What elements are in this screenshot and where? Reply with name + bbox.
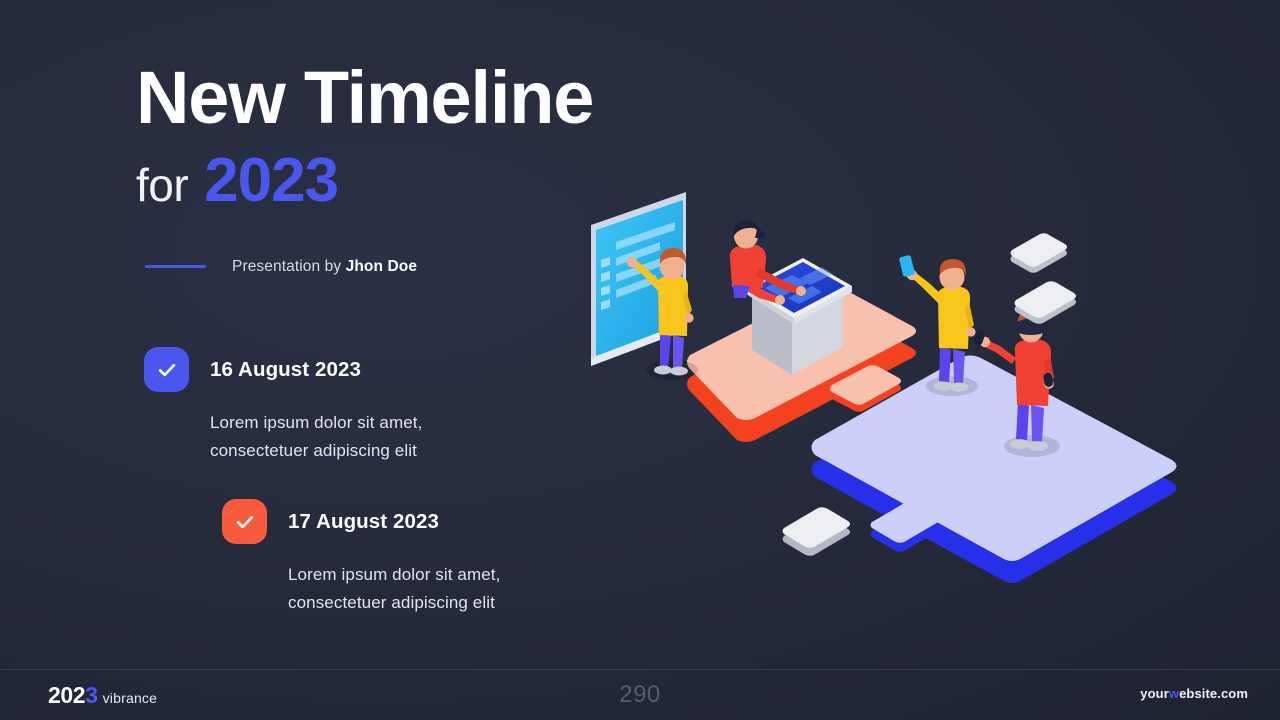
timeline-item-header: 17 August 2023 — [222, 499, 500, 544]
timeline-badge-checked[interactable] — [222, 499, 267, 544]
timeline-item[interactable]: 16 August 2023 Lorem ipsum dolor sit ame… — [144, 347, 422, 464]
website-link[interactable]: yourwebsite.com — [1140, 686, 1248, 701]
floating-slab-white-bottom — [783, 507, 851, 556]
timeline-item-date: 17 August 2023 — [288, 510, 439, 534]
website-accent-letter: w — [1169, 686, 1179, 701]
check-icon — [234, 511, 256, 533]
isometric-illustration — [560, 170, 1220, 610]
timeline-list: 16 August 2023 Lorem ipsum dolor sit ame… — [0, 0, 640, 720]
timeline-item-header: 16 August 2023 — [144, 347, 422, 392]
timeline-item[interactable]: 17 August 2023 Lorem ipsum dolor sit ame… — [222, 499, 500, 616]
footer-divider — [0, 669, 1280, 670]
timeline-item-description: Lorem ipsum dolor sit amet, consectetuer… — [210, 409, 422, 464]
timeline-badge-checked[interactable] — [144, 347, 189, 392]
website-suffix: ebsite.com — [1179, 686, 1248, 701]
website-prefix: your — [1140, 686, 1169, 701]
floating-slab-white-top — [1011, 233, 1068, 273]
page-number: 290 — [0, 681, 1280, 709]
check-icon — [156, 359, 178, 381]
timeline-item-date: 16 August 2023 — [210, 358, 361, 382]
timeline-item-description: Lorem ipsum dolor sit amet, consectetuer… — [288, 561, 500, 616]
presentation-slide: New Timeline for 2023 Presentation by Jh… — [0, 0, 1280, 720]
